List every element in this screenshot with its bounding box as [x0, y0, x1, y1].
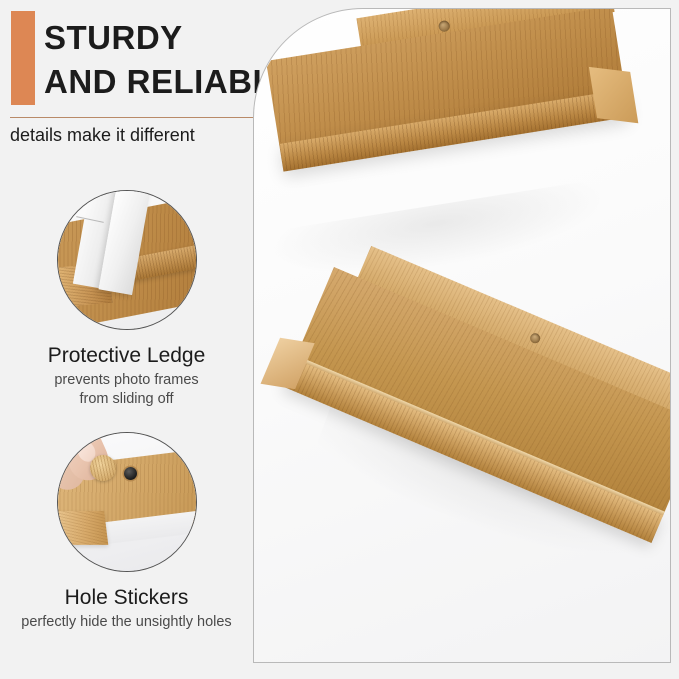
mounting-hole — [124, 467, 137, 480]
feature-description: perfectly hide the unsightly holes — [0, 613, 253, 632]
left-column: STURDY AND RELIABLE details make it diff… — [0, 0, 253, 679]
feature-title: Protective Ledge — [0, 344, 253, 367]
feature-desc-line-1: perfectly hide the unsightly holes — [0, 613, 253, 632]
feature-protective-ledge: Protective Ledge prevents photo frames f… — [0, 190, 253, 409]
accent-bar — [11, 11, 35, 105]
title-divider — [10, 117, 253, 118]
wood-hole-sticker — [90, 455, 116, 481]
hole-stickers-photo — [57, 432, 197, 572]
feature-hole-stickers: Hole Stickers perfectly hide the unsight… — [0, 432, 253, 632]
upper-shelf-end-cap — [589, 67, 638, 123]
feature-title: Hole Stickers — [0, 586, 253, 609]
feature-description: prevents photo frames from sliding off — [0, 371, 253, 409]
subtitle: details make it different — [10, 122, 253, 149]
protective-ledge-photo — [57, 190, 197, 330]
product-photo-panel — [253, 8, 671, 663]
feature-desc-line-1: prevents photo frames — [0, 371, 253, 390]
product-photo-inner — [254, 9, 670, 662]
upper-shelf — [266, 9, 630, 180]
infographic-root: STURDY AND RELIABLE details make it diff… — [0, 0, 679, 679]
shelf-ledge-lip — [57, 511, 108, 545]
feature-desc-line-2: from sliding off — [0, 390, 253, 409]
